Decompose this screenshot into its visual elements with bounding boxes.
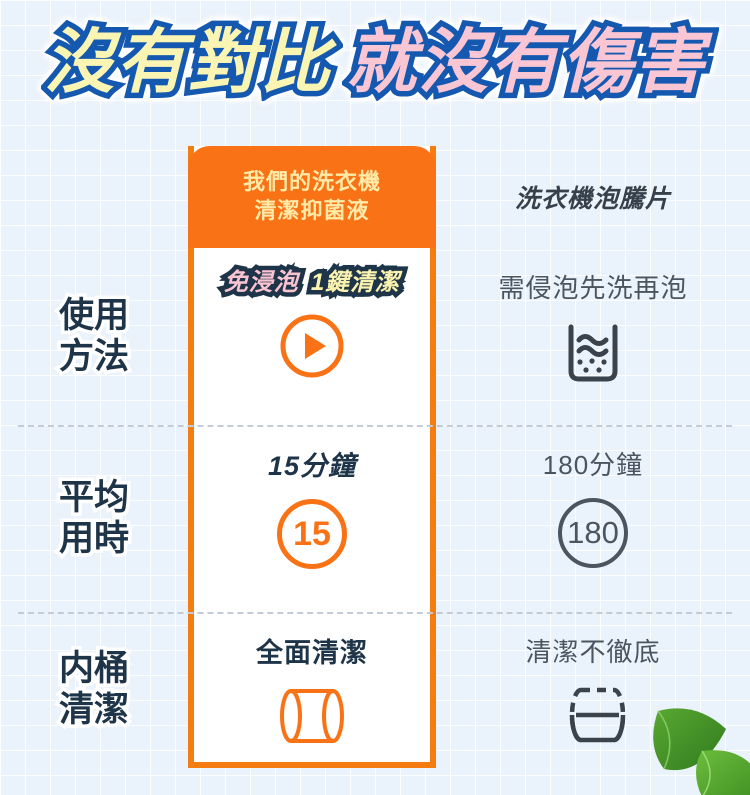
row-label-average-time: 平均 用時 bbox=[0, 425, 188, 612]
row-label-drum-cleaning: 内桶 清潔 bbox=[0, 612, 188, 768]
row-label-line2: 方法 bbox=[59, 337, 129, 378]
competitor-time-text: 180分鐘 bbox=[543, 445, 643, 482]
comparison-row-average-time: 平均 用時 15分鐘 15 180分鐘 180 bbox=[0, 425, 750, 612]
competitor-cell-average-time: 180分鐘 180 bbox=[436, 425, 750, 612]
our-drum-headline: 全面清潔 bbox=[256, 631, 368, 670]
our-cell-usage-method: 免浸泡 1鍵清潔 bbox=[188, 248, 436, 425]
page-title: 沒有對比就沒有傷害 bbox=[0, 26, 750, 100]
our-product-header-line1: 我們的洗衣機 bbox=[243, 168, 381, 197]
row-label-line1: 平均 bbox=[59, 478, 129, 519]
row-label-line2: 用時 bbox=[59, 519, 129, 560]
our-product-header-line2: 清潔抑菌液 bbox=[254, 197, 369, 226]
row-label-line1: 内桶 bbox=[59, 649, 129, 690]
competitor-product-header: 洗衣機泡騰片 bbox=[436, 146, 750, 248]
competitor-drum-text: 清潔不徹底 bbox=[525, 632, 660, 669]
page-title-part-a: 沒有對比 bbox=[44, 26, 332, 100]
comparison-row-usage-method: 使用 方法 免浸泡 1鍵清潔 需侵泡先洗再泡 bbox=[0, 248, 750, 425]
badge-no-soak: 免浸泡 bbox=[220, 262, 303, 297]
soaking-basin-icon bbox=[558, 321, 628, 387]
competitor-usage-text: 需侵泡先洗再泡 bbox=[498, 268, 687, 305]
competitor-time-number: 180 bbox=[558, 498, 628, 568]
row-label-line2: 清潔 bbox=[59, 690, 129, 731]
our-time-number-circle-icon: 15 bbox=[277, 499, 347, 569]
row-label-line1: 使用 bbox=[59, 296, 129, 337]
page-title-part-b: 就沒有傷害 bbox=[346, 26, 706, 100]
our-time-headline: 15分鐘 bbox=[268, 444, 356, 483]
badge-one-touch: 1鍵清潔 bbox=[307, 262, 404, 297]
play-circle-icon bbox=[279, 313, 345, 379]
our-cell-drum-cleaning: 全面清潔 bbox=[188, 612, 436, 768]
row-label-usage-method: 使用 方法 bbox=[0, 248, 188, 425]
feature-badges: 免浸泡 1鍵清潔 bbox=[220, 262, 404, 297]
competitor-time-number-circle-icon: 180 bbox=[558, 498, 628, 568]
competitor-cell-usage-method: 需侵泡先洗再泡 bbox=[436, 248, 750, 425]
green-leaf-icon bbox=[606, 693, 750, 795]
drum-full-icon bbox=[273, 686, 351, 746]
our-product-header: 我們的洗衣機 清潔抑菌液 bbox=[188, 146, 436, 248]
our-cell-average-time: 15分鐘 15 bbox=[188, 425, 436, 612]
our-time-number: 15 bbox=[277, 499, 347, 569]
